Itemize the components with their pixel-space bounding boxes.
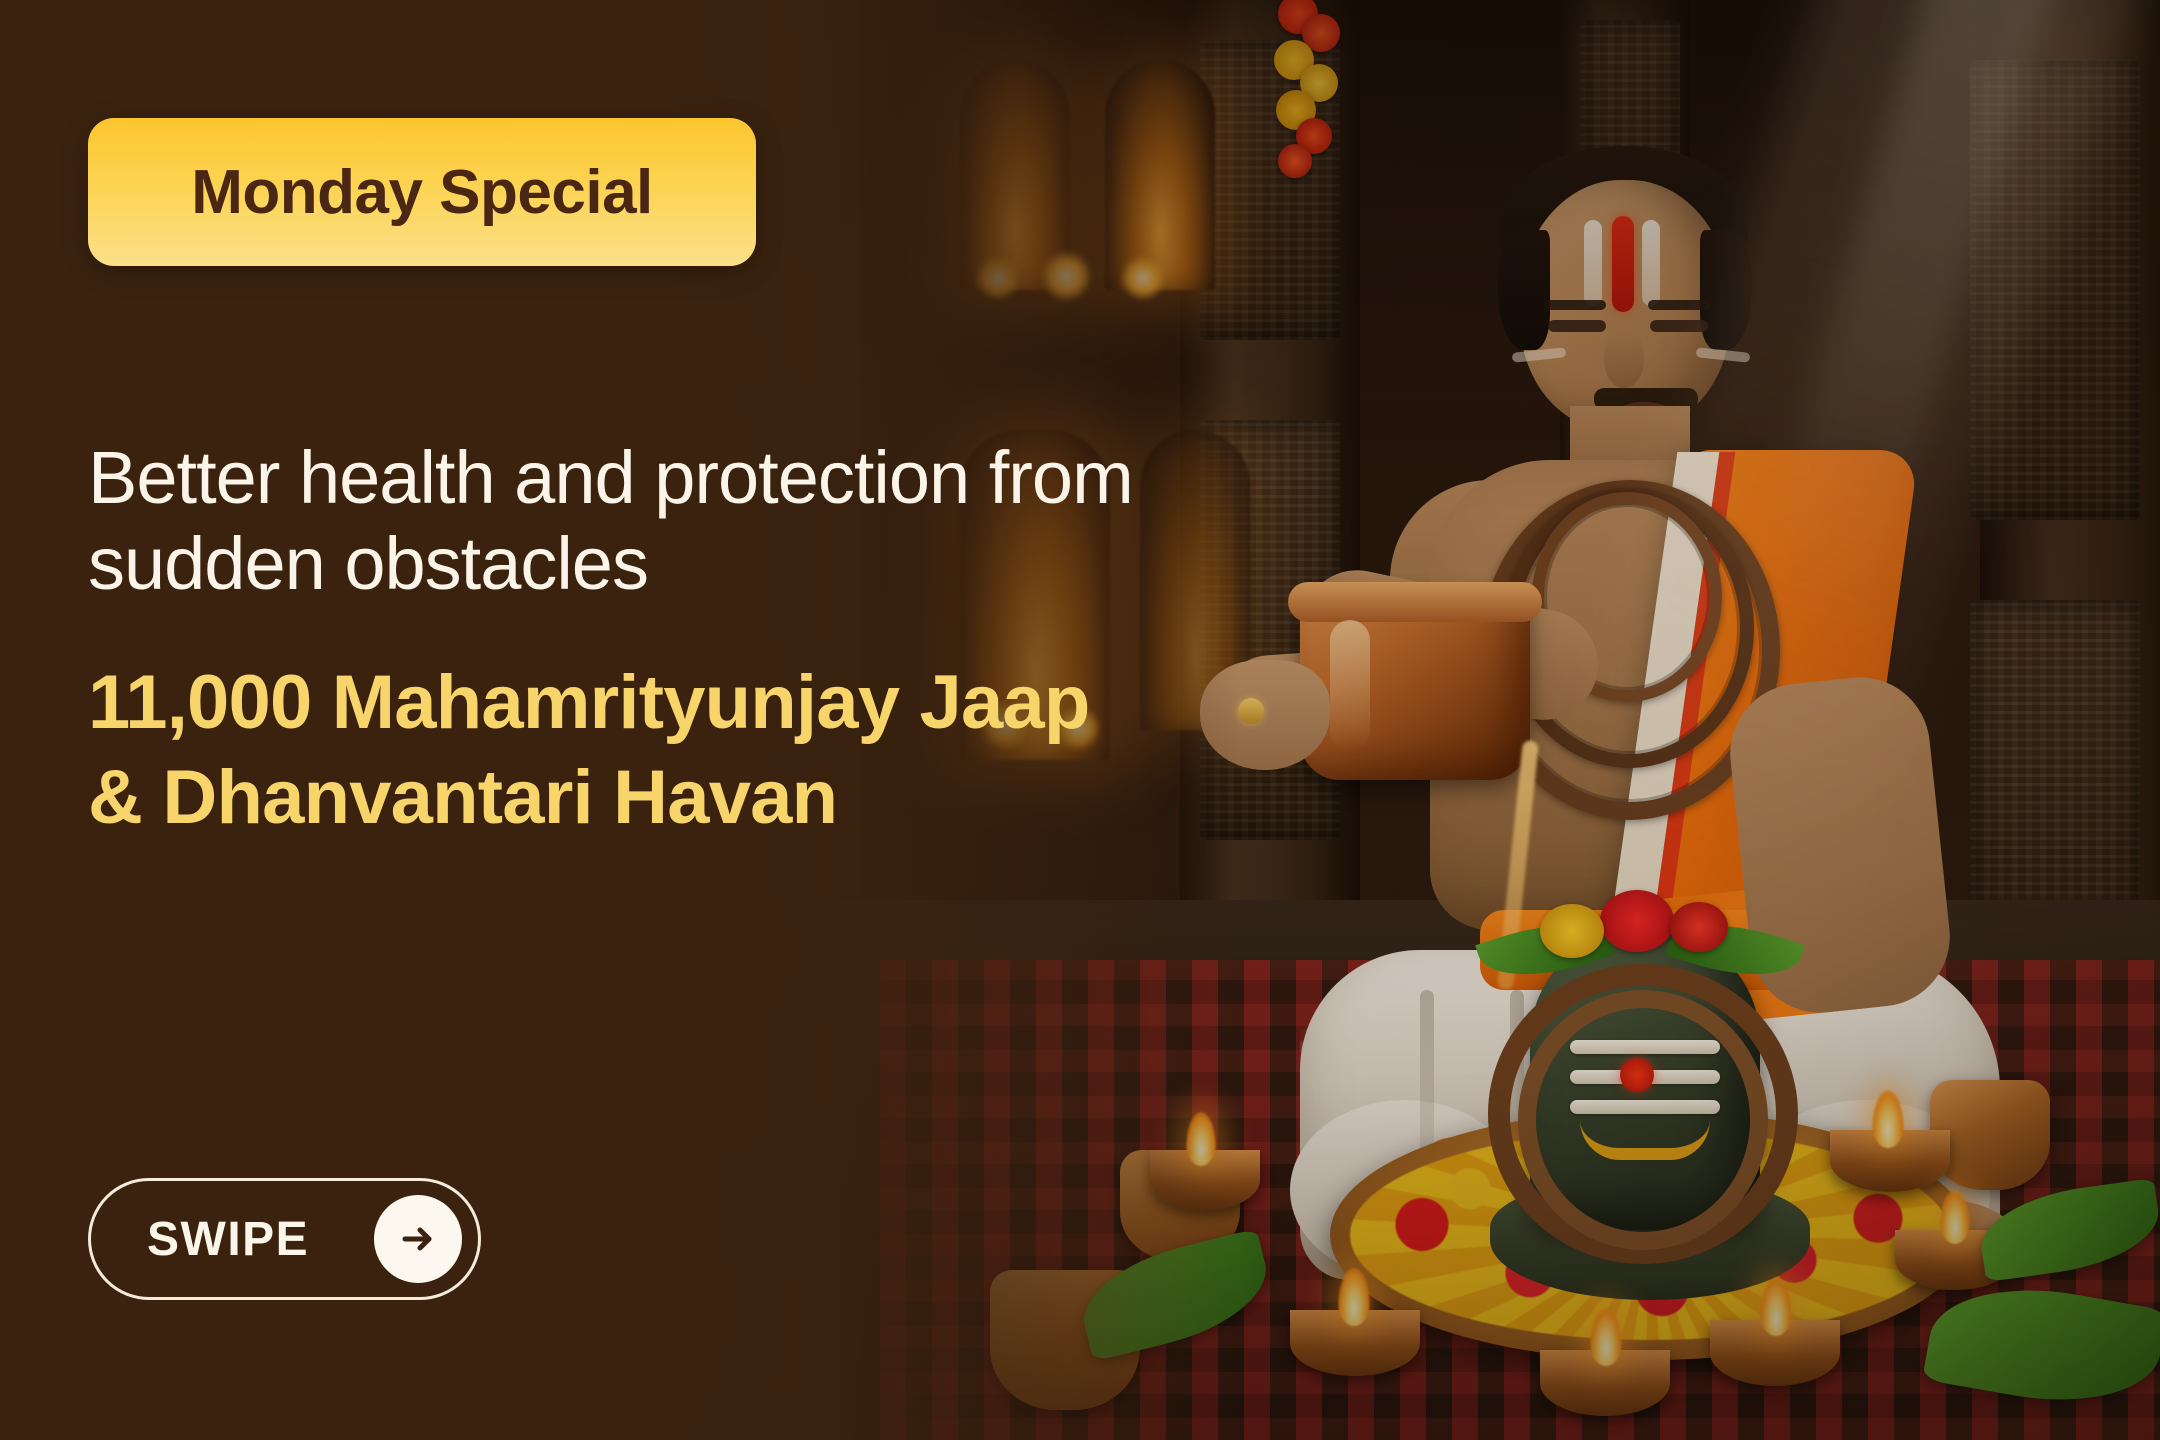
promo-banner: Monday Special Better health and protect… — [0, 0, 2160, 1440]
arrow-right-icon[interactable] — [374, 1195, 462, 1283]
subheadline-text: 11,000 Mahamrityunjay Jaap & Dhanvantari… — [88, 655, 1108, 845]
headline-text: Better health and protection from sudden… — [88, 435, 1158, 607]
content-layer: Monday Special Better health and protect… — [0, 0, 2160, 1440]
swipe-button[interactable]: SWIPE — [88, 1178, 481, 1300]
badge-label: Monday Special — [191, 157, 653, 228]
monday-special-badge: Monday Special — [88, 118, 756, 266]
swipe-button-label: SWIPE — [147, 1212, 374, 1267]
